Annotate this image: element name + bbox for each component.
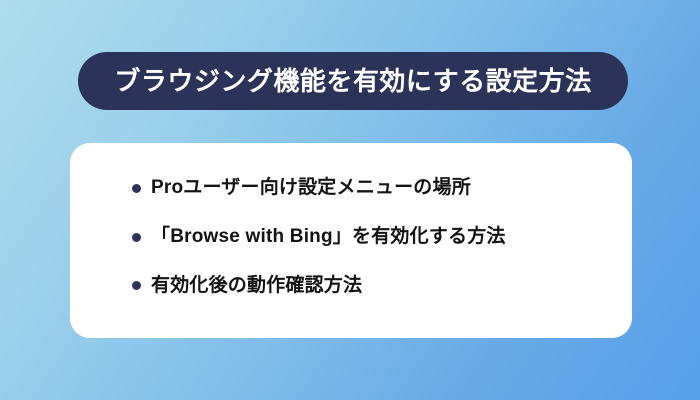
bullet-dot-icon — [132, 281, 141, 290]
title-banner: ブラウジング機能を有効にする設定方法 — [78, 52, 628, 110]
list-item: Proユーザー向け設定メニューの場所 — [104, 177, 598, 200]
bullet-dot-icon — [132, 184, 141, 193]
list-item: 有効化後の動作確認方法 — [104, 275, 598, 298]
bullet-list: Proユーザー向け設定メニューの場所 「Browse with Bing」を有効… — [104, 177, 598, 297]
list-item-label: Proユーザー向け設定メニューの場所 — [151, 177, 471, 200]
bullet-dot-icon — [132, 233, 141, 242]
list-item: 「Browse with Bing」を有効化する方法 — [104, 226, 598, 249]
page-title: ブラウジング機能を有効にする設定方法 — [114, 68, 591, 94]
content-card: Proユーザー向け設定メニューの場所 「Browse with Bing」を有効… — [70, 143, 632, 338]
list-item-label: 「Browse with Bing」を有効化する方法 — [151, 226, 506, 249]
list-item-label: 有効化後の動作確認方法 — [151, 275, 362, 298]
slide-canvas: ブラウジング機能を有効にする設定方法 Proユーザー向け設定メニューの場所 「B… — [0, 0, 700, 400]
